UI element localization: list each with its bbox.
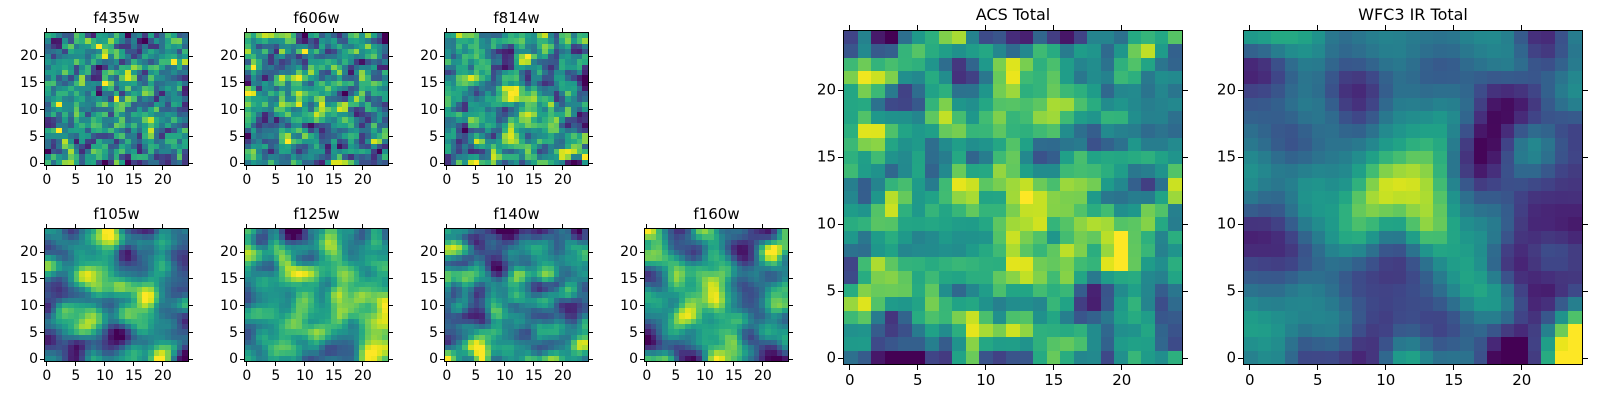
xticklabel-f125w-15: 15 — [325, 369, 343, 383]
xtick-f125w-5 — [275, 362, 276, 366]
yticklabel-f140w-10: 10 — [380, 299, 438, 313]
yticklabel-f435w-15: 15 — [0, 76, 38, 90]
yticklabel-f140w-15: 15 — [380, 272, 438, 286]
xticklabel-f606w-20: 20 — [354, 173, 372, 187]
ytick-right-f160w-15 — [789, 278, 793, 279]
xtick-top-f125w-5 — [275, 224, 276, 228]
xticklabel-wfc3ir-5: 5 — [1313, 373, 1323, 388]
xtick-f160w-5 — [675, 362, 676, 366]
xtick-top-f606w-10 — [304, 28, 305, 32]
ytick-f435w-0 — [40, 163, 44, 164]
panel-title-f125w: f125w — [244, 207, 389, 222]
ytick-right-wfc3ir-5 — [1583, 291, 1588, 292]
ytick-acs-10 — [838, 224, 843, 225]
yticklabel-wfc3ir-5: 5 — [1178, 284, 1236, 299]
xtick-wfc3ir-20 — [1521, 365, 1522, 370]
yticklabel-acs-20: 20 — [778, 83, 836, 98]
ytick-right-f160w-10 — [789, 305, 793, 306]
yticklabel-f125w-5: 5 — [180, 326, 238, 340]
axes-f435w — [44, 32, 189, 166]
yticklabel-wfc3ir-0: 0 — [1178, 351, 1236, 366]
xticklabel-f105w-5: 5 — [71, 369, 80, 383]
xticklabel-acs-15: 15 — [1044, 373, 1063, 388]
ytick-f606w-15 — [240, 82, 244, 83]
axes-wfc3ir — [1243, 30, 1583, 365]
xtick-f160w-15 — [733, 362, 734, 366]
ytick-f125w-5 — [240, 332, 244, 333]
ytick-acs-20 — [838, 90, 843, 91]
xticklabel-f814w-15: 15 — [525, 173, 543, 187]
xtick-top-f140w-5 — [475, 224, 476, 228]
xtick-f125w-20 — [362, 362, 363, 366]
axes-acs — [843, 30, 1183, 365]
heatmap-f105w — [45, 229, 188, 361]
xtick-top-f160w-5 — [675, 224, 676, 228]
xticklabel-f160w-20: 20 — [754, 369, 772, 383]
axes-f814w — [444, 32, 589, 166]
xtick-top-f105w-20 — [162, 224, 163, 228]
xtick-top-f140w-20 — [562, 224, 563, 228]
heatmap-f814w — [445, 33, 588, 165]
xticklabel-f814w-5: 5 — [471, 173, 480, 187]
xtick-f606w-20 — [362, 166, 363, 170]
xtick-wfc3ir-10 — [1385, 365, 1386, 370]
yticklabel-f140w-5: 5 — [380, 326, 438, 340]
xtick-wfc3ir-15 — [1453, 365, 1454, 370]
ytick-wfc3ir-20 — [1238, 90, 1243, 91]
yticklabel-f606w-0: 0 — [180, 156, 238, 170]
yticklabel-wfc3ir-15: 15 — [1178, 150, 1236, 165]
xtick-f606w-15 — [333, 166, 334, 170]
xtick-top-f606w-20 — [362, 28, 363, 32]
xticklabel-f435w-0: 0 — [42, 173, 51, 187]
xticklabel-f160w-10: 10 — [696, 369, 714, 383]
xticklabel-f105w-0: 0 — [42, 369, 51, 383]
panel-f435w: f435w0510152005101520 — [44, 32, 189, 166]
xtick-top-f105w-5 — [75, 224, 76, 228]
yticklabel-f606w-10: 10 — [180, 103, 238, 117]
yticklabel-f435w-5: 5 — [0, 130, 38, 144]
xtick-top-f140w-15 — [533, 224, 534, 228]
yticklabel-f435w-0: 0 — [0, 156, 38, 170]
xticklabel-f125w-5: 5 — [271, 369, 280, 383]
heatmap-wfc3ir — [1244, 31, 1582, 364]
heatmap-f140w — [445, 229, 588, 361]
ytick-right-f814w-15 — [589, 82, 593, 83]
xtick-top-f125w-10 — [304, 224, 305, 228]
ytick-f140w-5 — [440, 332, 444, 333]
xticklabel-f125w-0: 0 — [242, 369, 251, 383]
xticklabel-f435w-5: 5 — [71, 173, 80, 187]
ytick-wfc3ir-0 — [1238, 358, 1243, 359]
yticklabel-f105w-5: 5 — [0, 326, 38, 340]
xtick-f606w-10 — [304, 166, 305, 170]
yticklabel-f140w-20: 20 — [380, 245, 438, 259]
ytick-f105w-20 — [40, 252, 44, 253]
yticklabel-f814w-0: 0 — [380, 156, 438, 170]
heatmap-f435w — [45, 33, 188, 165]
heatmap-f160w — [645, 229, 788, 361]
yticklabel-f105w-10: 10 — [0, 299, 38, 313]
xtick-f105w-0 — [46, 362, 47, 366]
panel-acs: ACS Total0510152005101520 — [843, 30, 1183, 365]
xtick-top-f606w-5 — [275, 28, 276, 32]
xticklabel-f435w-10: 10 — [96, 173, 114, 187]
ytick-f125w-20 — [240, 252, 244, 253]
xtick-top-f435w-0 — [46, 28, 47, 32]
ytick-f105w-15 — [40, 278, 44, 279]
panel-f814w: f814w0510152005101520 — [444, 32, 589, 166]
ytick-f140w-10 — [440, 305, 444, 306]
panel-title-f814w: f814w — [444, 11, 589, 26]
axes-f105w — [44, 228, 189, 362]
yticklabel-f814w-5: 5 — [380, 130, 438, 144]
xticklabel-acs-0: 0 — [845, 373, 855, 388]
yticklabel-f160w-20: 20 — [580, 245, 638, 259]
panel-title-f140w: f140w — [444, 207, 589, 222]
xtick-top-wfc3ir-10 — [1385, 25, 1386, 30]
xtick-f105w-15 — [133, 362, 134, 366]
xtick-acs-5 — [917, 365, 918, 370]
xtick-top-f160w-10 — [704, 224, 705, 228]
xtick-top-f125w-0 — [246, 224, 247, 228]
xticklabel-f160w-0: 0 — [642, 369, 651, 383]
ytick-f140w-20 — [440, 252, 444, 253]
ytick-right-f814w-10 — [589, 109, 593, 110]
heatmap-acs — [844, 31, 1182, 364]
xticklabel-f435w-20: 20 — [154, 173, 172, 187]
xticklabel-f125w-20: 20 — [354, 369, 372, 383]
ytick-f160w-15 — [640, 278, 644, 279]
xticklabel-f140w-10: 10 — [496, 369, 514, 383]
ytick-right-wfc3ir-0 — [1583, 358, 1588, 359]
ytick-f814w-10 — [440, 109, 444, 110]
yticklabel-f814w-20: 20 — [380, 49, 438, 63]
yticklabel-f435w-20: 20 — [0, 49, 38, 63]
ytick-right-f160w-5 — [789, 332, 793, 333]
heatmap-f606w — [245, 33, 388, 165]
xtick-f814w-0 — [446, 166, 447, 170]
yticklabel-acs-15: 15 — [778, 150, 836, 165]
xtick-f435w-0 — [46, 166, 47, 170]
ytick-right-f814w-20 — [589, 56, 593, 57]
xtick-f435w-10 — [104, 166, 105, 170]
xticklabel-f140w-15: 15 — [525, 369, 543, 383]
xticklabel-f606w-5: 5 — [271, 173, 280, 187]
xtick-f105w-10 — [104, 362, 105, 366]
xticklabel-f435w-15: 15 — [125, 173, 143, 187]
ytick-right-wfc3ir-20 — [1583, 90, 1588, 91]
ytick-f435w-15 — [40, 82, 44, 83]
xticklabel-f160w-5: 5 — [671, 369, 680, 383]
xtick-acs-20 — [1121, 365, 1122, 370]
xtick-top-f814w-20 — [562, 28, 563, 32]
ytick-f435w-5 — [40, 136, 44, 137]
xticklabel-acs-10: 10 — [976, 373, 995, 388]
xtick-f814w-20 — [562, 166, 563, 170]
panel-f105w: f105w0510152005101520 — [44, 228, 189, 362]
ytick-right-wfc3ir-15 — [1583, 157, 1588, 158]
xticklabel-f140w-0: 0 — [442, 369, 451, 383]
yticklabel-acs-10: 10 — [778, 217, 836, 232]
yticklabel-f606w-5: 5 — [180, 130, 238, 144]
ytick-f160w-0 — [640, 359, 644, 360]
yticklabel-f125w-10: 10 — [180, 299, 238, 313]
xtick-top-f435w-20 — [162, 28, 163, 32]
yticklabel-f814w-10: 10 — [380, 103, 438, 117]
xtick-top-acs-10 — [985, 25, 986, 30]
xticklabel-f606w-15: 15 — [325, 173, 343, 187]
ytick-f606w-10 — [240, 109, 244, 110]
xtick-f160w-0 — [646, 362, 647, 366]
ytick-wfc3ir-15 — [1238, 157, 1243, 158]
figure-canvas: f435w0510152005101520f606w05101520051015… — [0, 0, 1600, 400]
xtick-f160w-20 — [762, 362, 763, 366]
xtick-top-f105w-0 — [46, 224, 47, 228]
ytick-wfc3ir-10 — [1238, 224, 1243, 225]
xtick-acs-15 — [1053, 365, 1054, 370]
xticklabel-f160w-15: 15 — [725, 369, 743, 383]
yticklabel-f140w-0: 0 — [380, 352, 438, 366]
yticklabel-wfc3ir-10: 10 — [1178, 217, 1236, 232]
panel-f140w: f140w0510152005101520 — [444, 228, 589, 362]
xtick-f140w-20 — [562, 362, 563, 366]
xtick-top-f435w-5 — [75, 28, 76, 32]
xtick-f435w-20 — [162, 166, 163, 170]
yticklabel-acs-0: 0 — [778, 351, 836, 366]
ytick-f814w-0 — [440, 163, 444, 164]
yticklabel-f435w-10: 10 — [0, 103, 38, 117]
xtick-top-wfc3ir-5 — [1317, 25, 1318, 30]
ytick-f814w-5 — [440, 136, 444, 137]
xticklabel-wfc3ir-15: 15 — [1444, 373, 1463, 388]
xtick-f160w-10 — [704, 362, 705, 366]
ytick-f435w-10 — [40, 109, 44, 110]
xticklabel-f140w-5: 5 — [471, 369, 480, 383]
yticklabel-f125w-0: 0 — [180, 352, 238, 366]
ytick-f606w-0 — [240, 163, 244, 164]
xtick-f125w-15 — [333, 362, 334, 366]
panel-title-wfc3ir: WFC3 IR Total — [1243, 7, 1583, 23]
ytick-right-f814w-0 — [589, 163, 593, 164]
ytick-f814w-20 — [440, 56, 444, 57]
xtick-top-acs-15 — [1053, 25, 1054, 30]
ytick-acs-15 — [838, 157, 843, 158]
xtick-top-f814w-15 — [533, 28, 534, 32]
ytick-f814w-15 — [440, 82, 444, 83]
xtick-top-f814w-5 — [475, 28, 476, 32]
ytick-f160w-20 — [640, 252, 644, 253]
panel-f160w: f160w0510152005101520 — [644, 228, 789, 362]
yticklabel-acs-5: 5 — [778, 284, 836, 299]
ytick-f160w-10 — [640, 305, 644, 306]
xtick-top-f160w-20 — [762, 224, 763, 228]
yticklabel-f160w-5: 5 — [580, 326, 638, 340]
xtick-top-acs-5 — [917, 25, 918, 30]
ytick-f606w-5 — [240, 136, 244, 137]
xtick-f606w-0 — [246, 166, 247, 170]
panel-title-f606w: f606w — [244, 11, 389, 26]
panel-title-acs: ACS Total — [843, 7, 1183, 23]
panel-title-f160w: f160w — [644, 207, 789, 222]
xtick-wfc3ir-5 — [1317, 365, 1318, 370]
axes-f606w — [244, 32, 389, 166]
xtick-top-f606w-15 — [333, 28, 334, 32]
xticklabel-f105w-15: 15 — [125, 369, 143, 383]
xticklabel-wfc3ir-20: 20 — [1512, 373, 1531, 388]
yticklabel-f160w-0: 0 — [580, 352, 638, 366]
xtick-f140w-0 — [446, 362, 447, 366]
xtick-top-f606w-0 — [246, 28, 247, 32]
xtick-f435w-15 — [133, 166, 134, 170]
yticklabel-f105w-15: 15 — [0, 272, 38, 286]
ytick-f160w-5 — [640, 332, 644, 333]
ytick-acs-0 — [838, 358, 843, 359]
yticklabel-f125w-20: 20 — [180, 245, 238, 259]
ytick-acs-5 — [838, 291, 843, 292]
panel-title-f435w: f435w — [44, 11, 189, 26]
xtick-top-wfc3ir-20 — [1521, 25, 1522, 30]
ytick-f125w-10 — [240, 305, 244, 306]
panel-title-f105w: f105w — [44, 207, 189, 222]
ytick-f105w-0 — [40, 359, 44, 360]
xtick-f125w-0 — [246, 362, 247, 366]
xtick-f140w-5 — [475, 362, 476, 366]
xtick-top-f105w-15 — [133, 224, 134, 228]
panel-wfc3ir: WFC3 IR Total0510152005101520 — [1243, 30, 1583, 365]
yticklabel-f160w-15: 15 — [580, 272, 638, 286]
xtick-top-f140w-0 — [446, 224, 447, 228]
xticklabel-f140w-20: 20 — [554, 369, 572, 383]
axes-f140w — [444, 228, 589, 362]
xtick-f606w-5 — [275, 166, 276, 170]
ytick-right-f814w-5 — [589, 136, 593, 137]
xticklabel-f606w-0: 0 — [242, 173, 251, 187]
ytick-f140w-15 — [440, 278, 444, 279]
xtick-top-f435w-10 — [104, 28, 105, 32]
xtick-f814w-5 — [475, 166, 476, 170]
xtick-top-f435w-15 — [133, 28, 134, 32]
yticklabel-f606w-20: 20 — [180, 49, 238, 63]
ytick-wfc3ir-5 — [1238, 291, 1243, 292]
xticklabel-f125w-10: 10 — [296, 369, 314, 383]
xtick-top-wfc3ir-0 — [1249, 25, 1250, 30]
xticklabel-f105w-10: 10 — [96, 369, 114, 383]
xticklabel-wfc3ir-0: 0 — [1245, 373, 1255, 388]
yticklabel-f105w-20: 20 — [0, 245, 38, 259]
xtick-f140w-10 — [504, 362, 505, 366]
xticklabel-f814w-20: 20 — [554, 173, 572, 187]
xtick-acs-0 — [849, 365, 850, 370]
ytick-right-f160w-20 — [789, 252, 793, 253]
xticklabel-wfc3ir-10: 10 — [1376, 373, 1395, 388]
xtick-wfc3ir-0 — [1249, 365, 1250, 370]
xticklabel-acs-20: 20 — [1112, 373, 1131, 388]
xticklabel-f606w-10: 10 — [296, 173, 314, 187]
yticklabel-wfc3ir-20: 20 — [1178, 83, 1236, 98]
xticklabel-f814w-10: 10 — [496, 173, 514, 187]
xtick-top-wfc3ir-15 — [1453, 25, 1454, 30]
panel-f125w: f125w0510152005101520 — [244, 228, 389, 362]
yticklabel-f814w-15: 15 — [380, 76, 438, 90]
ytick-f125w-0 — [240, 359, 244, 360]
ytick-f435w-20 — [40, 56, 44, 57]
xticklabel-f814w-0: 0 — [442, 173, 451, 187]
xtick-top-f814w-0 — [446, 28, 447, 32]
xtick-f105w-20 — [162, 362, 163, 366]
xtick-top-f125w-20 — [362, 224, 363, 228]
ytick-right-wfc3ir-10 — [1583, 224, 1588, 225]
xtick-f435w-5 — [75, 166, 76, 170]
xtick-top-f160w-15 — [733, 224, 734, 228]
xtick-top-f105w-10 — [104, 224, 105, 228]
xtick-f814w-10 — [504, 166, 505, 170]
xtick-top-acs-20 — [1121, 25, 1122, 30]
ytick-f140w-0 — [440, 359, 444, 360]
yticklabel-f105w-0: 0 — [0, 352, 38, 366]
ytick-f105w-5 — [40, 332, 44, 333]
xtick-f105w-5 — [75, 362, 76, 366]
yticklabel-f160w-10: 10 — [580, 299, 638, 313]
ytick-f105w-10 — [40, 305, 44, 306]
xticklabel-f105w-20: 20 — [154, 369, 172, 383]
xtick-acs-10 — [985, 365, 986, 370]
axes-f160w — [644, 228, 789, 362]
ytick-f606w-20 — [240, 56, 244, 57]
yticklabel-f125w-15: 15 — [180, 272, 238, 286]
xticklabel-acs-5: 5 — [913, 373, 923, 388]
xtick-top-f160w-0 — [646, 224, 647, 228]
panel-f606w: f606w0510152005101520 — [244, 32, 389, 166]
xtick-top-acs-0 — [849, 25, 850, 30]
xtick-top-f125w-15 — [333, 224, 334, 228]
xtick-top-f814w-10 — [504, 28, 505, 32]
ytick-f125w-15 — [240, 278, 244, 279]
axes-f125w — [244, 228, 389, 362]
heatmap-f125w — [245, 229, 388, 361]
yticklabel-f606w-15: 15 — [180, 76, 238, 90]
xtick-top-f140w-10 — [504, 224, 505, 228]
xtick-f140w-15 — [533, 362, 534, 366]
xtick-f814w-15 — [533, 166, 534, 170]
xtick-f125w-10 — [304, 362, 305, 366]
